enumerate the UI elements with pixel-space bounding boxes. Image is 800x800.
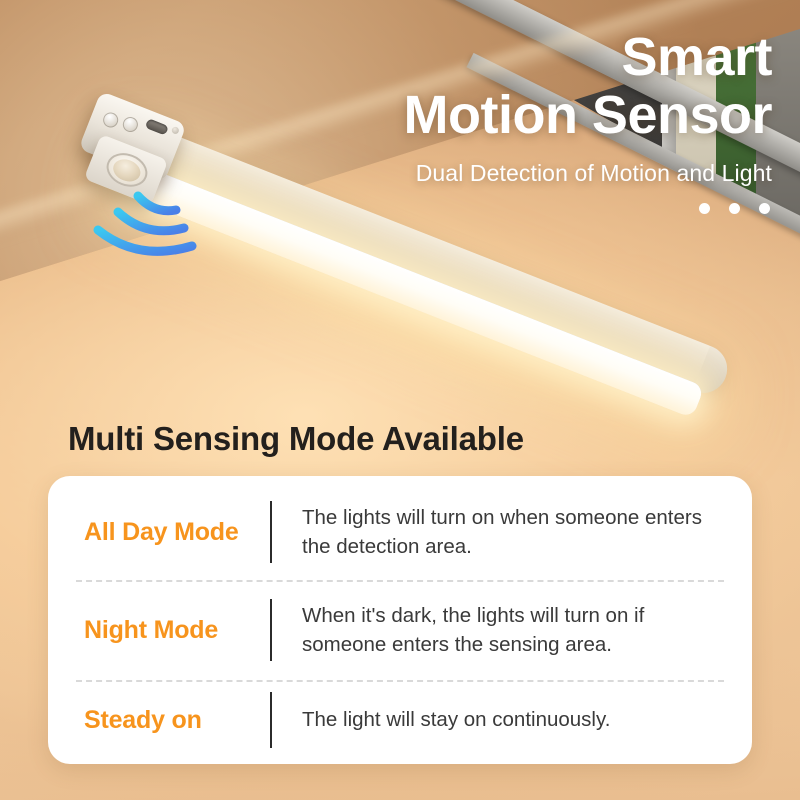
hero-headline: Smart Motion Sensor bbox=[404, 30, 773, 142]
product-marketing-banner: Smart Motion Sensor Dual Detection of Mo… bbox=[0, 0, 800, 800]
usb-c-port-icon bbox=[145, 118, 169, 135]
screw-icon bbox=[171, 126, 180, 135]
headline-line-2: Motion Sensor bbox=[404, 88, 773, 142]
mode-description: The light will stay on continuously. bbox=[272, 705, 634, 734]
mode-row-all-day: All Day Mode The lights will turn on whe… bbox=[48, 490, 752, 574]
mode-label: Steady on bbox=[48, 706, 270, 735]
mode-label: All Day Mode bbox=[48, 518, 270, 547]
mode-row-steady-on: Steady on The light will stay on continu… bbox=[48, 688, 752, 752]
mode-description: When it's dark, the lights will turn on … bbox=[272, 601, 752, 659]
hero-subtitle: Dual Detection of Motion and Light bbox=[416, 160, 772, 187]
mode-label: Night Mode bbox=[48, 616, 270, 645]
control-button-icon bbox=[121, 115, 140, 134]
control-button-icon bbox=[101, 110, 120, 129]
mode-divider-horizontal bbox=[76, 580, 724, 582]
mode-row-night: Night Mode When it's dark, the lights wi… bbox=[48, 588, 752, 672]
dot-icon bbox=[729, 203, 740, 214]
mode-description: The lights will turn on when someone ent… bbox=[272, 503, 752, 561]
mode-divider-horizontal bbox=[76, 680, 724, 682]
wifi-waves-icon bbox=[92, 176, 222, 266]
sensing-modes-card: All Day Mode The lights will turn on whe… bbox=[48, 476, 752, 764]
decorative-dots bbox=[699, 203, 770, 214]
dot-icon bbox=[759, 203, 770, 214]
dot-icon bbox=[699, 203, 710, 214]
headline-line-1: Smart bbox=[404, 30, 773, 84]
section-title: Multi Sensing Mode Available bbox=[68, 420, 524, 458]
